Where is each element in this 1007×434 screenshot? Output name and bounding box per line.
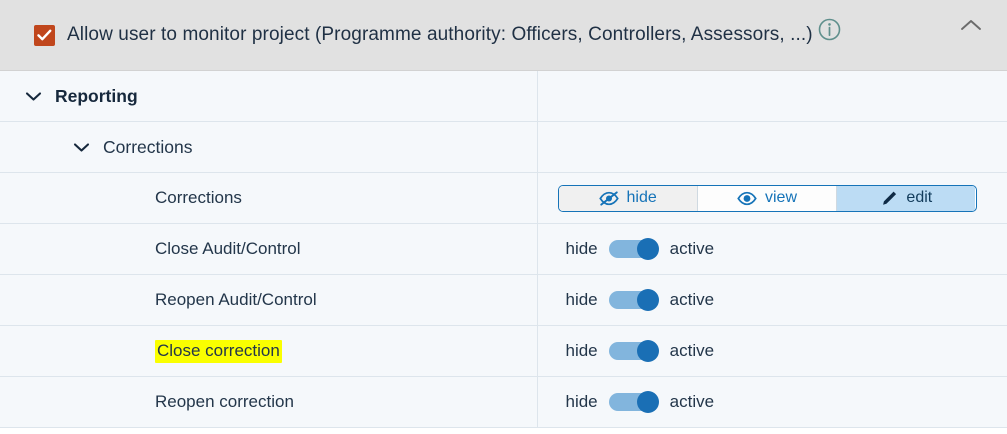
toggle-off-label: hide bbox=[566, 290, 598, 310]
toggle-off-label: hide bbox=[566, 239, 598, 259]
eye-slash-icon bbox=[599, 191, 619, 206]
toggle-on-label: active bbox=[670, 392, 714, 412]
row-label: Reopen Audit/Control bbox=[155, 290, 317, 310]
row-control-cell bbox=[537, 122, 1007, 173]
close-audit-control-toggle-group: hide active bbox=[558, 238, 715, 260]
check-icon bbox=[37, 29, 52, 42]
row-control-cell: hide active bbox=[537, 377, 1007, 428]
expand-chevron-down-icon[interactable] bbox=[71, 142, 92, 153]
permissions-table: Reporting Corrections bbox=[0, 71, 1007, 428]
reopen-audit-control-toggle-group: hide active bbox=[558, 289, 715, 311]
row-label: Close Audit/Control bbox=[155, 239, 301, 259]
segment-hide-label: hide bbox=[627, 189, 657, 207]
monitor-project-banner: Allow user to monitor project (Programme… bbox=[0, 0, 1007, 71]
reopen-correction-toggle-group: hide active bbox=[558, 391, 715, 413]
table-row: Corrections bbox=[0, 173, 1007, 224]
segment-hide-button[interactable]: hide bbox=[559, 186, 698, 211]
table-row: Close correction hide active bbox=[0, 326, 1007, 377]
toggle-knob bbox=[637, 391, 659, 413]
table-row: Reopen correction hide active bbox=[0, 377, 1007, 428]
row-label: Corrections bbox=[155, 188, 242, 208]
row-label-cell: Close Audit/Control bbox=[0, 224, 537, 275]
row-label: Corrections bbox=[103, 137, 192, 158]
segment-view-button[interactable]: view bbox=[698, 186, 837, 211]
close-correction-toggle-group: hide active bbox=[558, 340, 715, 362]
segment-edit-label: edit bbox=[906, 189, 932, 207]
row-label-cell: Reopen Audit/Control bbox=[0, 275, 537, 326]
eye-icon bbox=[737, 191, 757, 206]
collapse-section-chevron-up-icon[interactable] bbox=[960, 18, 982, 32]
row-label-highlighted: Close correction bbox=[155, 340, 282, 363]
allow-monitor-project-label: Allow user to monitor project (Programme… bbox=[67, 24, 813, 46]
row-label: Reopen correction bbox=[155, 392, 294, 412]
permissions-table-body: Reporting Corrections bbox=[0, 71, 1007, 428]
segment-view-label: view bbox=[765, 189, 797, 207]
toggle-off-label: hide bbox=[566, 392, 598, 412]
row-label-cell: Corrections bbox=[0, 173, 537, 224]
toggle-on-label: active bbox=[670, 239, 714, 259]
close-correction-toggle[interactable] bbox=[609, 340, 659, 362]
allow-monitor-project-checkbox[interactable] bbox=[34, 25, 55, 46]
row-label-cell: Corrections bbox=[0, 122, 537, 173]
expand-chevron-down-icon[interactable] bbox=[23, 91, 44, 102]
row-label-cell: Reporting bbox=[0, 71, 537, 122]
banner-content: Allow user to monitor project (Programme… bbox=[34, 24, 989, 46]
close-audit-control-toggle[interactable] bbox=[609, 238, 659, 260]
row-label-cell: Close correction bbox=[0, 326, 537, 377]
row-control-cell: hide active bbox=[537, 224, 1007, 275]
toggle-off-label: hide bbox=[566, 341, 598, 361]
row-control-cell: hide active bbox=[537, 326, 1007, 377]
reopen-audit-control-toggle[interactable] bbox=[609, 289, 659, 311]
permissions-screen: Allow user to monitor project (Programme… bbox=[0, 0, 1007, 434]
table-row: Reopen Audit/Control hide active bbox=[0, 275, 1007, 326]
toggle-knob bbox=[637, 289, 659, 311]
table-row[interactable]: Corrections bbox=[0, 122, 1007, 173]
row-label: Reporting bbox=[55, 86, 138, 107]
row-label-cell: Reopen correction bbox=[0, 377, 537, 428]
toggle-on-label: active bbox=[670, 290, 714, 310]
toggle-on-label: active bbox=[670, 341, 714, 361]
toggle-knob bbox=[637, 340, 659, 362]
row-control-cell: hide view bbox=[537, 173, 1007, 224]
reopen-correction-toggle[interactable] bbox=[609, 391, 659, 413]
row-control-cell bbox=[537, 71, 1007, 122]
toggle-knob bbox=[637, 238, 659, 260]
corrections-permission-segmented-control[interactable]: hide view bbox=[558, 185, 977, 212]
table-row[interactable]: Reporting bbox=[0, 71, 1007, 122]
row-control-cell: hide active bbox=[537, 275, 1007, 326]
pencil-icon bbox=[880, 190, 898, 207]
info-circle-icon[interactable] bbox=[818, 18, 841, 41]
table-row: Close Audit/Control hide active bbox=[0, 224, 1007, 275]
segment-edit-button[interactable]: edit bbox=[837, 186, 975, 211]
